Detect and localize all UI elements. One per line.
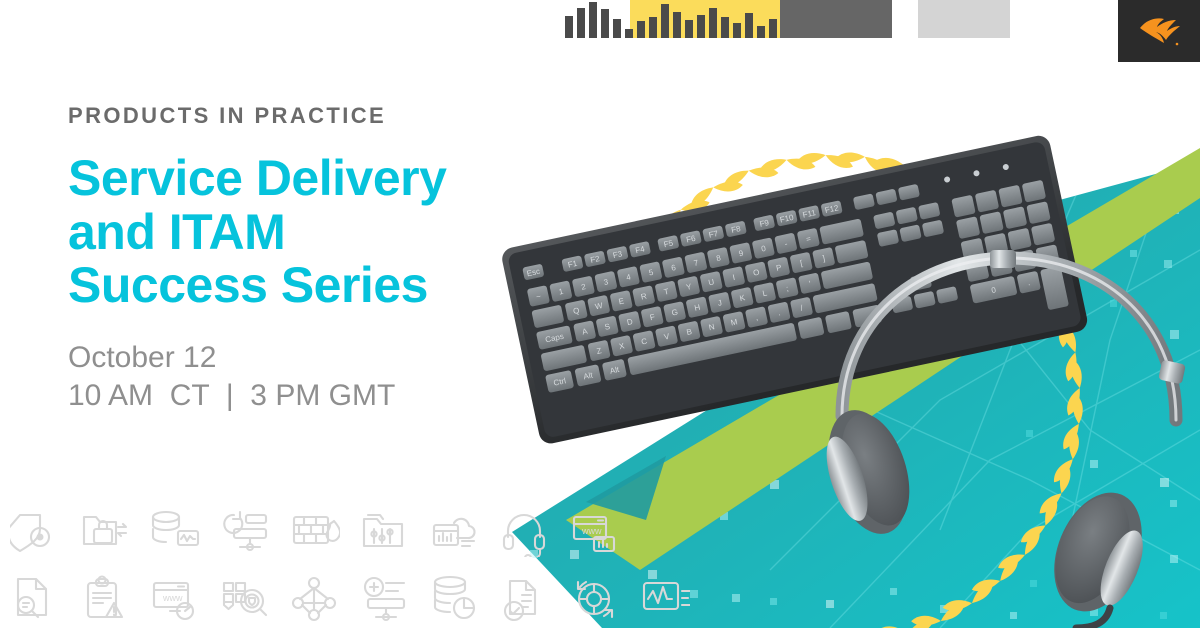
web-chart-icon: www <box>560 502 630 562</box>
waveform-bar <box>757 26 765 38</box>
network-nodes-icon <box>280 568 350 628</box>
clipboard-alert-icon <box>70 568 140 628</box>
svg-text:www: www <box>162 593 183 603</box>
server-sync-icon <box>210 502 280 562</box>
icon-pattern-band: www www <box>0 496 1200 628</box>
waveform-bar <box>721 17 729 38</box>
waveform-bar <box>637 21 645 38</box>
firewall-flame-icon <box>280 502 350 562</box>
waveform-bar <box>625 29 633 38</box>
waveform-bar <box>577 8 585 38</box>
waveform-bar <box>661 4 669 38</box>
icon-row-bottom: www <box>0 568 700 628</box>
grid-shield-search-icon <box>210 568 280 628</box>
folder-settings-icon <box>350 502 420 562</box>
waveform-bar <box>565 16 573 38</box>
server-add-icon <box>350 568 420 628</box>
waveform-bar <box>601 9 609 38</box>
waveform-bar <box>589 2 597 38</box>
svg-text:www: www <box>581 526 602 536</box>
document-search-icon <box>0 568 70 628</box>
dark-gray-block <box>780 0 892 38</box>
database-pie-icon <box>420 568 490 628</box>
waveform-bar <box>673 12 681 38</box>
header-decoration-strip <box>0 0 1200 60</box>
waveform-bar <box>769 19 777 38</box>
database-monitor-icon <box>140 502 210 562</box>
headset-icon <box>490 502 560 562</box>
waveform-bar <box>709 8 717 38</box>
waveform-bar <box>649 17 657 38</box>
light-gray-block <box>918 0 1010 38</box>
waveform-bar <box>745 13 753 38</box>
browser-speed-icon: www <box>140 568 210 628</box>
audio-waveform-bars <box>565 0 780 45</box>
waveform-bar <box>685 20 693 38</box>
waveform-bar <box>733 23 741 38</box>
solarwinds-flame-logo <box>1136 14 1182 48</box>
lifebuoy-refresh-icon <box>560 568 630 628</box>
folder-lock-transfer-icon <box>70 502 140 562</box>
cloud-analytics-icon <box>420 502 490 562</box>
document-check-icon <box>490 568 560 628</box>
waveform-bar <box>613 19 621 38</box>
shield-target-icon <box>0 502 70 562</box>
banner-canvas: PRODUCTS IN PRACTICE Service Delivery an… <box>0 0 1200 628</box>
waveform-bar <box>697 15 705 38</box>
solarwinds-logo-badge[interactable] <box>1118 0 1200 62</box>
icon-row-top: www <box>0 502 630 562</box>
monitor-pulse-icon <box>630 568 700 628</box>
